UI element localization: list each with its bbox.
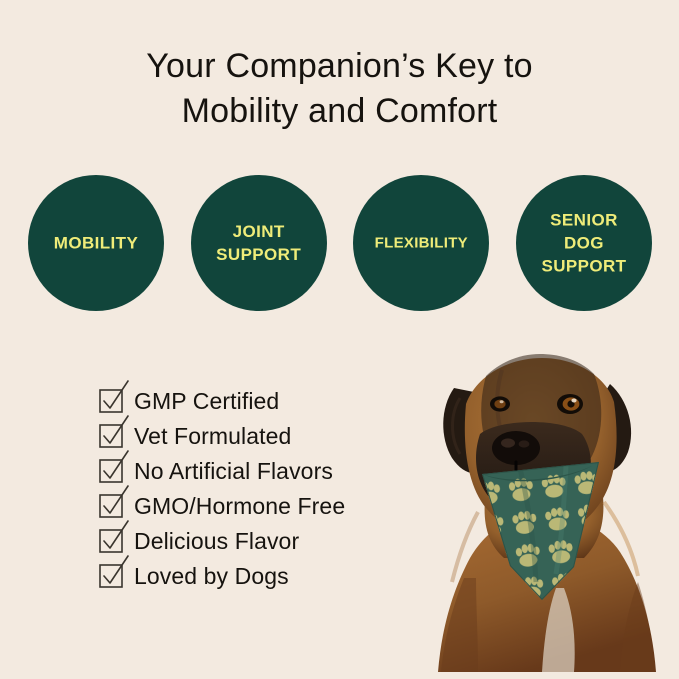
benefit-badge-senior-dog-support: SENIOR DOG SUPPORT xyxy=(516,175,652,311)
benefit-badges-row: MOBILITY JOINT SUPPORT FLEXIBILITY SENIO… xyxy=(28,175,652,311)
page-title-line-2: Mobility and Comfort xyxy=(0,89,679,134)
page-title-line-1: Your Companion’s Key to xyxy=(0,44,679,89)
list-item-label: Vet Formulated xyxy=(134,423,291,449)
list-item-label: Loved by Dogs xyxy=(134,563,289,589)
list-item: Delicious Flavor xyxy=(100,523,430,558)
checked-checkbox-icon xyxy=(100,495,122,517)
checked-checkbox-icon xyxy=(100,425,122,447)
list-item: Loved by Dogs xyxy=(100,558,430,593)
dog-wearing-paw-print-bandana xyxy=(424,352,679,672)
benefit-badge-joint-support: JOINT SUPPORT xyxy=(191,175,327,311)
list-item-label: GMO/Hormone Free xyxy=(134,493,345,519)
benefit-badge-flexibility: FLEXIBILITY xyxy=(353,175,489,311)
benefit-badge-label: FLEXIBILITY xyxy=(341,232,501,255)
checked-checkbox-icon xyxy=(100,460,122,482)
page-title: Your Companion’s Key to Mobility and Com… xyxy=(0,44,679,134)
benefit-badge-label: SENIOR DOG SUPPORT xyxy=(504,209,664,278)
list-item-label: GMP Certified xyxy=(134,388,279,414)
benefit-badge-label: MOBILITY xyxy=(16,232,176,255)
infographic-page: Your Companion’s Key to Mobility and Com… xyxy=(0,0,679,679)
checked-checkbox-icon xyxy=(100,390,122,412)
benefit-badge-label: JOINT SUPPORT xyxy=(179,220,339,266)
checked-checkbox-icon xyxy=(100,530,122,552)
benefit-badge-mobility: MOBILITY xyxy=(28,175,164,311)
list-item-label: Delicious Flavor xyxy=(134,528,299,554)
list-item: Vet Formulated xyxy=(100,418,430,453)
list-item: No Artificial Flavors xyxy=(100,453,430,488)
list-item: GMP Certified xyxy=(100,383,430,418)
checked-checkbox-icon xyxy=(100,565,122,587)
list-item-label: No Artificial Flavors xyxy=(134,458,333,484)
list-item: GMO/Hormone Free xyxy=(100,488,430,523)
feature-checklist: GMP Certified Vet Formulated No Artifici… xyxy=(100,383,430,593)
